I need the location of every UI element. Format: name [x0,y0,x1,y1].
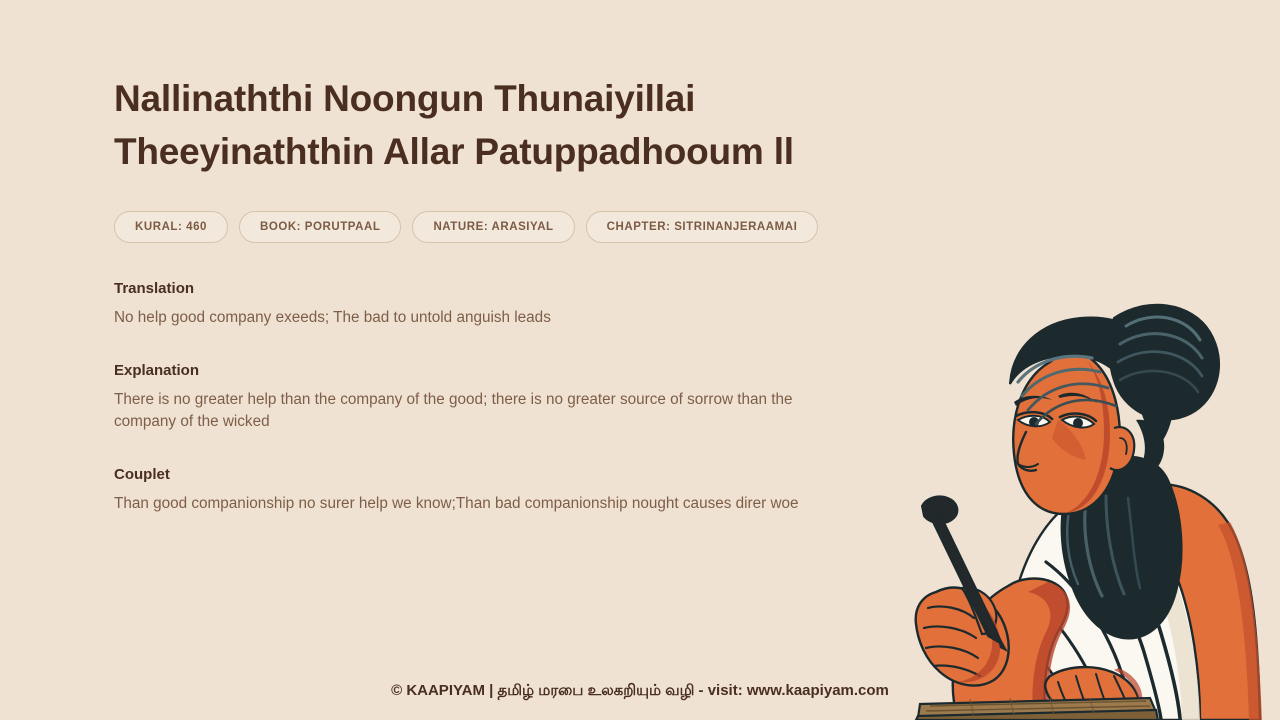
section-couplet: Couplet Than good companionship no surer… [114,466,954,515]
section-label-explanation: Explanation [114,362,954,379]
section-translation: Translation No help good company exeeds;… [114,280,954,329]
kural-card: Nallinaththi Noongun Thunaiyillai Theeyi… [0,0,1280,720]
page-title: Nallinaththi Noongun Thunaiyillai Theeyi… [114,72,944,178]
badge-chapter[interactable]: CHAPTER: SITRINANJERAAMAI [586,211,819,243]
section-label-translation: Translation [114,280,954,297]
badge-nature[interactable]: NATURE: ARASIYAL [412,211,574,243]
section-label-couplet: Couplet [114,466,954,483]
badge-book[interactable]: BOOK: PORUTPAAL [239,211,401,243]
section-text-couplet: Than good companionship no surer help we… [114,493,829,515]
badge-kural[interactable]: KURAL: 460 [114,211,228,243]
thiruvalluvar-illustration [900,300,1280,720]
metadata-badge-row: KURAL: 460 BOOK: PORUTPAAL NATURE: ARASI… [114,211,954,243]
footer-credit: © KAAPIYAM | தமிழ் மரபை உலகறியும் வழி - … [0,682,1280,701]
section-text-explanation: There is no greater help than the compan… [114,389,829,433]
section-explanation: Explanation There is no greater help tha… [114,362,954,433]
kural-content: Nallinaththi Noongun Thunaiyillai Theeyi… [114,72,954,515]
section-text-translation: No help good company exeeds; The bad to … [114,307,829,329]
